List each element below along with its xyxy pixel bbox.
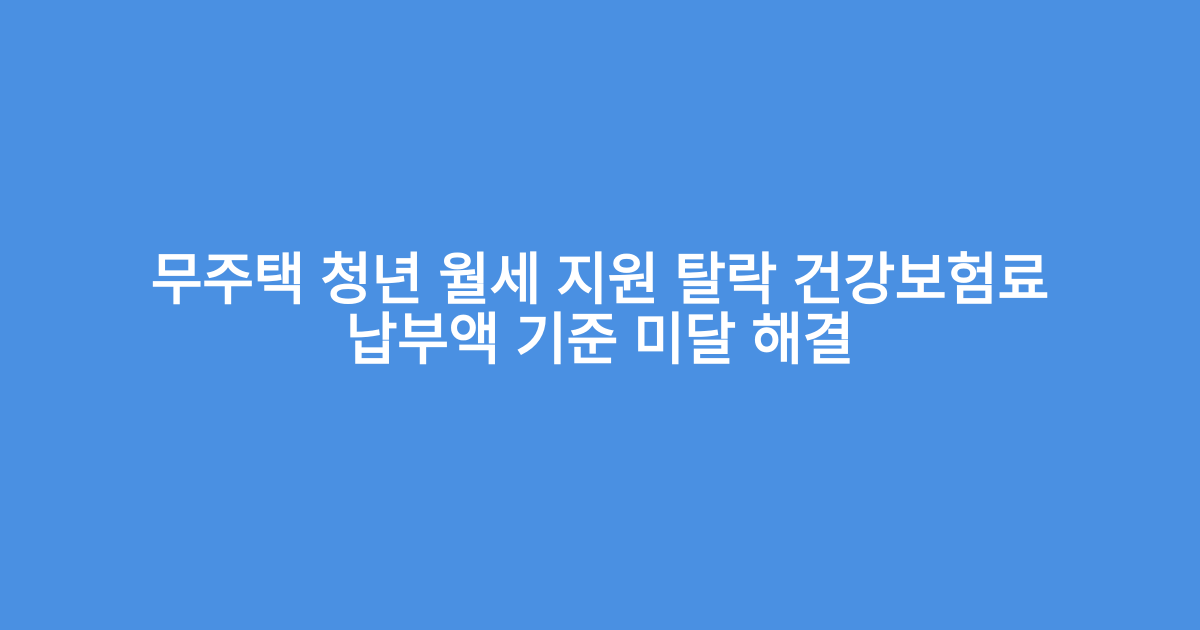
card-content-wrapper: 무주택 청년 월세 지원 탈락 건강보험료 납부액 기준 미달 해결 — [70, 250, 1130, 370]
social-card: 무주택 청년 월세 지원 탈락 건강보험료 납부액 기준 미달 해결 — [0, 0, 1200, 630]
page-title: 무주택 청년 월세 지원 탈락 건강보험료 납부액 기준 미달 해결 — [70, 250, 1130, 370]
